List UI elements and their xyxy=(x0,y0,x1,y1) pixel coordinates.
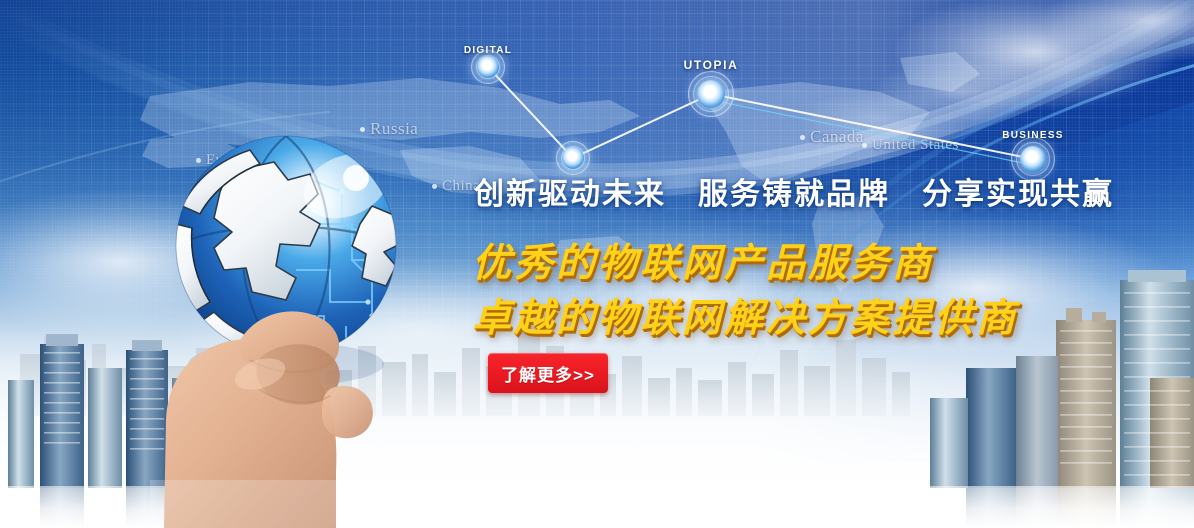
learn-more-button[interactable]: 了解更多>> xyxy=(488,353,608,393)
network-node-label-utopia: UTOPIA xyxy=(684,58,739,72)
hand-holding-globe-graphic xyxy=(110,120,470,528)
map-label-dot xyxy=(800,135,805,140)
node-glow-core xyxy=(697,80,725,108)
node-glow-core xyxy=(562,147,584,169)
banner-tagline-primary: 优秀的物联网产品服务商 xyxy=(472,232,934,288)
network-node-utopia[interactable] xyxy=(688,71,734,117)
network-node-label-business: BUSINESS xyxy=(1002,130,1064,141)
banner-tagline-secondary: 卓越的物联网解决方案提供商 xyxy=(472,287,1018,343)
map-label-dot xyxy=(862,143,867,148)
hero-banner: Eu Russia China Canada United States DIG… xyxy=(0,0,1194,528)
map-label-canada: Canada xyxy=(800,126,864,147)
banner-headline: 创新驱动未来 服务铸就品牌 分享实现共赢 xyxy=(474,169,1114,213)
network-node-label-digital: DIGITAL xyxy=(464,45,512,56)
map-label-united-states: United States xyxy=(862,137,959,154)
node-glow-core xyxy=(477,56,499,78)
